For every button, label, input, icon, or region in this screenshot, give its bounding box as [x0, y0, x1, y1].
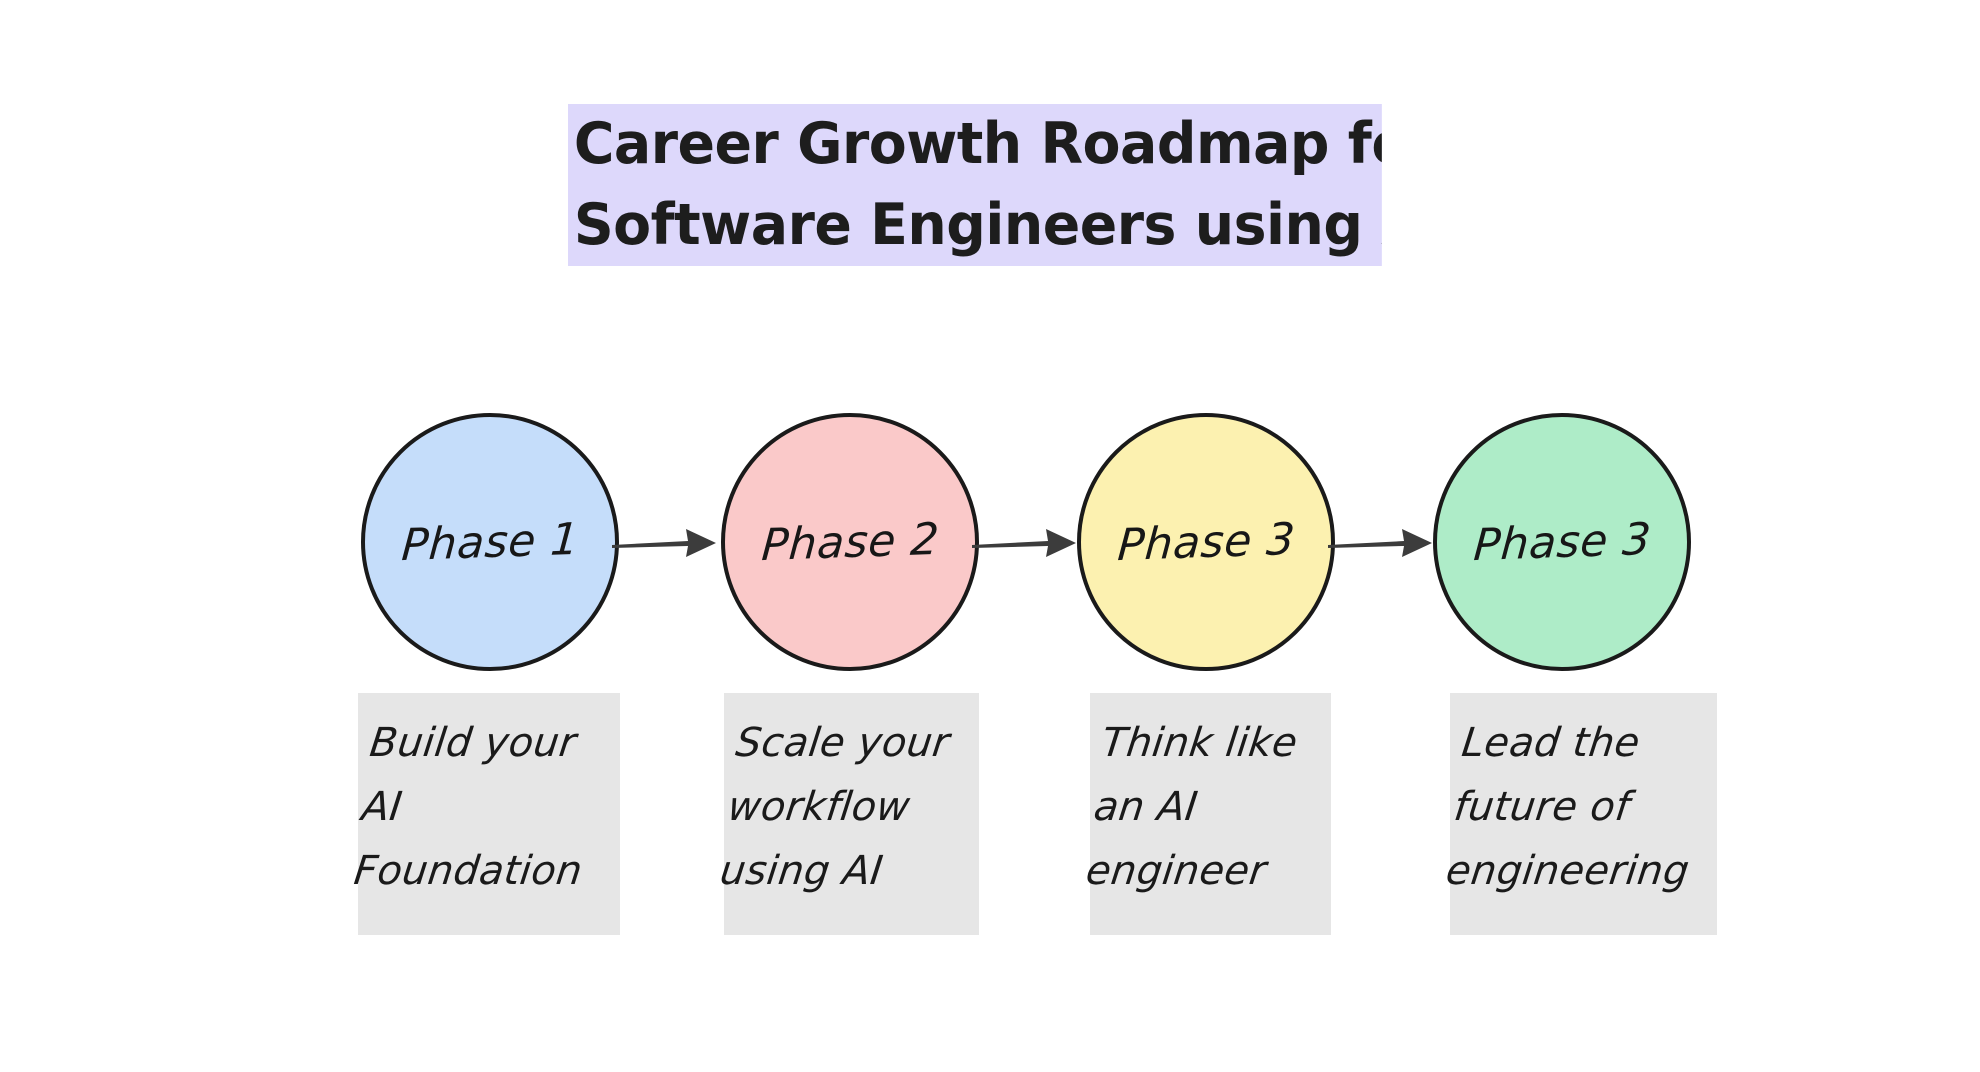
phase-circle-2[interactable]: Phase 2 [721, 413, 979, 671]
phase-caption-text-1: Build your AI Foundation [350, 711, 604, 903]
phase-caption-box-3[interactable]: Think like an AI engineer [1090, 693, 1331, 935]
phase-circle-3[interactable]: Phase 3 [1077, 413, 1335, 671]
phase-node-2[interactable]: Phase 2 Scale your workflow using AI [721, 413, 983, 943]
phase-node-1[interactable]: Phase 1 Build your AI Foundation [361, 413, 623, 943]
phase-caption-box-2[interactable]: Scale your workflow using AI [724, 693, 979, 935]
phase-circle-1[interactable]: Phase 1 [361, 413, 619, 671]
phase-circle-label-2: Phase 2 [760, 513, 941, 570]
flow-arrow-2 [972, 523, 1077, 563]
phase-caption-text-2: Scale your workflow using AI [716, 711, 963, 903]
phase-caption-box-1[interactable]: Build your AI Foundation [358, 693, 620, 935]
phase-node-4[interactable]: Phase 3 Lead the future of engineering [1433, 413, 1695, 943]
page-title: Career Growth Roadmap for Software Engin… [568, 104, 1413, 267]
diagram-canvas: Career Growth Roadmap for Software Engin… [0, 0, 1980, 1072]
phase-circle-label-4: Phase 3 [1472, 513, 1653, 570]
flow-arrow-3 [1328, 523, 1433, 563]
flow-arrow-1 [612, 523, 717, 563]
phase-circle-4[interactable]: Phase 3 [1433, 413, 1691, 671]
page-title-line-2: Software Engineers using AI [568, 185, 1382, 266]
phase-caption-text-4: Lead the future of engineering [1442, 711, 1701, 903]
page-title-line-1: Career Growth Roadmap for [568, 104, 1382, 185]
phase-node-3[interactable]: Phase 3 Think like an AI engineer [1077, 413, 1339, 943]
phase-caption-text-3: Think like an AI engineer [1082, 711, 1315, 903]
phase-circle-label-1: Phase 1 [400, 513, 581, 570]
phase-circle-label-3: Phase 3 [1116, 513, 1297, 570]
phase-caption-box-4[interactable]: Lead the future of engineering [1450, 693, 1717, 935]
